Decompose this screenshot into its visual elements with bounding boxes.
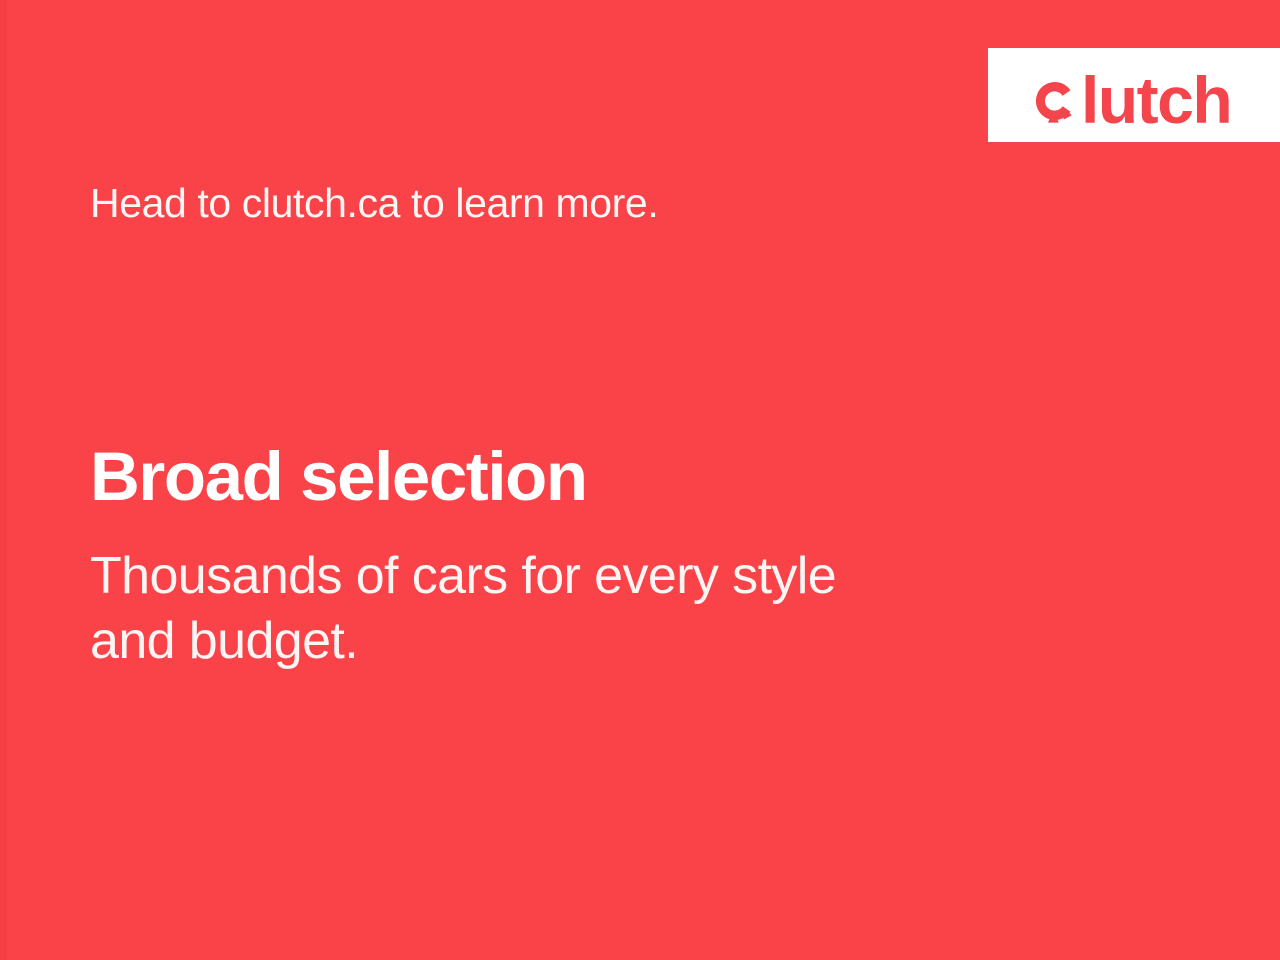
eyebrow-text: Head to clutch.ca to learn more. [90,180,658,227]
clutch-c-mark-icon [1030,77,1078,125]
subheadline-line-1: Thousands of cars for every style [90,544,1050,609]
clutch-logo-lockup: lutch [1030,64,1231,126]
left-edge-strip [0,0,7,960]
subheadline: Thousands of cars for every style and bu… [90,544,1050,674]
brand-logo-plate[interactable]: lutch [988,48,1280,142]
marketing-slide: lutch Head to clutch.ca to learn more. B… [0,0,1280,960]
headline: Broad selection [90,437,587,516]
clutch-wordmark: lutch [1081,75,1231,126]
subheadline-line-2: and budget. [90,609,1050,674]
